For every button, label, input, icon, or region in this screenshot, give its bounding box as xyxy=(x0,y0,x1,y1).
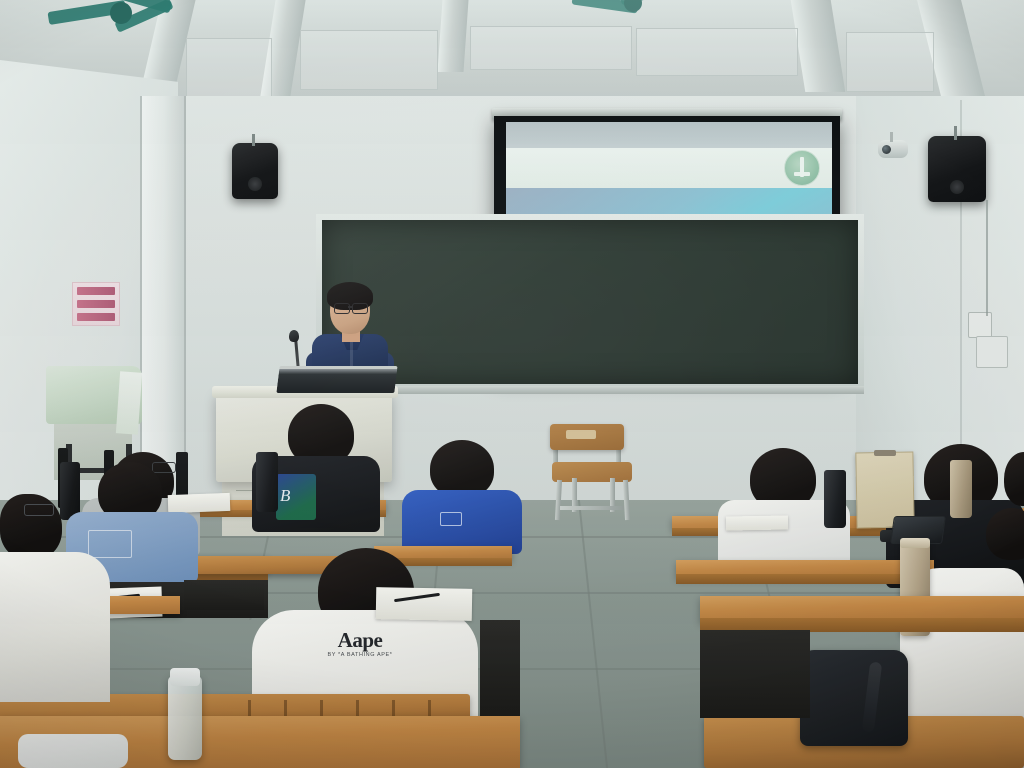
backpack-black[interactable] xyxy=(800,650,908,746)
wall-outlet xyxy=(968,312,992,338)
ceiling-panel xyxy=(636,28,798,76)
ceiling-fan xyxy=(48,0,178,36)
eyeglasses-icon xyxy=(334,303,350,314)
eyeglasses-icon xyxy=(152,462,176,473)
shirt-graphic xyxy=(88,530,132,558)
thermos-black-left[interactable] xyxy=(60,462,80,520)
wall-cable xyxy=(986,200,988,316)
desk-understructure xyxy=(700,630,810,718)
empty-wooden-chair-seat[interactable] xyxy=(552,462,632,482)
ceiling-panel xyxy=(846,32,934,92)
student-head xyxy=(986,508,1024,560)
eyeglasses-icon xyxy=(24,504,54,516)
white-cloth-item xyxy=(18,734,128,768)
under-armour-logo-icon xyxy=(440,512,462,526)
slide-band-top xyxy=(506,122,832,148)
ceiling-panel xyxy=(470,26,632,70)
notebook-open-right[interactable] xyxy=(726,515,788,530)
microphone-head-icon xyxy=(289,330,299,342)
desk-understructure xyxy=(480,620,520,716)
notebook-open-right[interactable] xyxy=(376,587,473,621)
ceiling-panel xyxy=(300,30,438,90)
thermos-black-right[interactable] xyxy=(824,470,846,528)
thermos-cap xyxy=(900,538,930,548)
student-blue-underarmour-body xyxy=(402,490,522,554)
chalk-ledge xyxy=(316,386,864,394)
speaker-bracket xyxy=(954,126,957,140)
cart-cloth-drape xyxy=(116,371,142,434)
wall-speaker-right xyxy=(928,136,986,202)
podium-monitor[interactable] xyxy=(276,366,397,393)
desk-understructure xyxy=(184,580,264,610)
clipboard-clip-icon xyxy=(874,450,896,456)
water-bottle-foreground[interactable] xyxy=(168,676,202,760)
shirt-graphic-subtext: BY *A BATHING APE* xyxy=(300,652,420,658)
pink-wall-notice xyxy=(72,282,120,326)
thermos-black-center[interactable] xyxy=(256,452,278,512)
ceiling-fan xyxy=(572,0,692,26)
university-seal-logo-icon xyxy=(784,150,820,186)
green-blackboard xyxy=(322,220,858,384)
ceiling-beam xyxy=(437,0,468,72)
eyeglasses-icon xyxy=(352,303,368,314)
speaker-bracket xyxy=(252,134,255,146)
water-bottle-cap xyxy=(170,668,200,686)
ceiling-panel xyxy=(186,38,272,102)
classroom-presentation-photo: 软件工程专业IEET工程认证 广东技术师范大学 xyxy=(0,0,1024,768)
desk-edge xyxy=(676,574,934,584)
chair-stretcher xyxy=(560,506,624,510)
eyeglasses-bridge xyxy=(348,306,353,308)
wall-speaker-left xyxy=(232,143,278,199)
shirt-graphic-text: Aape xyxy=(300,628,420,653)
camera-mount xyxy=(890,132,893,142)
security-camera xyxy=(878,140,908,158)
wall-outlet xyxy=(976,336,1008,368)
shirt-graphic-letter: B xyxy=(280,486,300,508)
notebook-open-left[interactable] xyxy=(168,493,231,513)
thermos-steel-far-right[interactable] xyxy=(950,460,972,518)
chair-label-plate xyxy=(566,430,596,439)
student-foreground-left-body xyxy=(0,552,110,702)
